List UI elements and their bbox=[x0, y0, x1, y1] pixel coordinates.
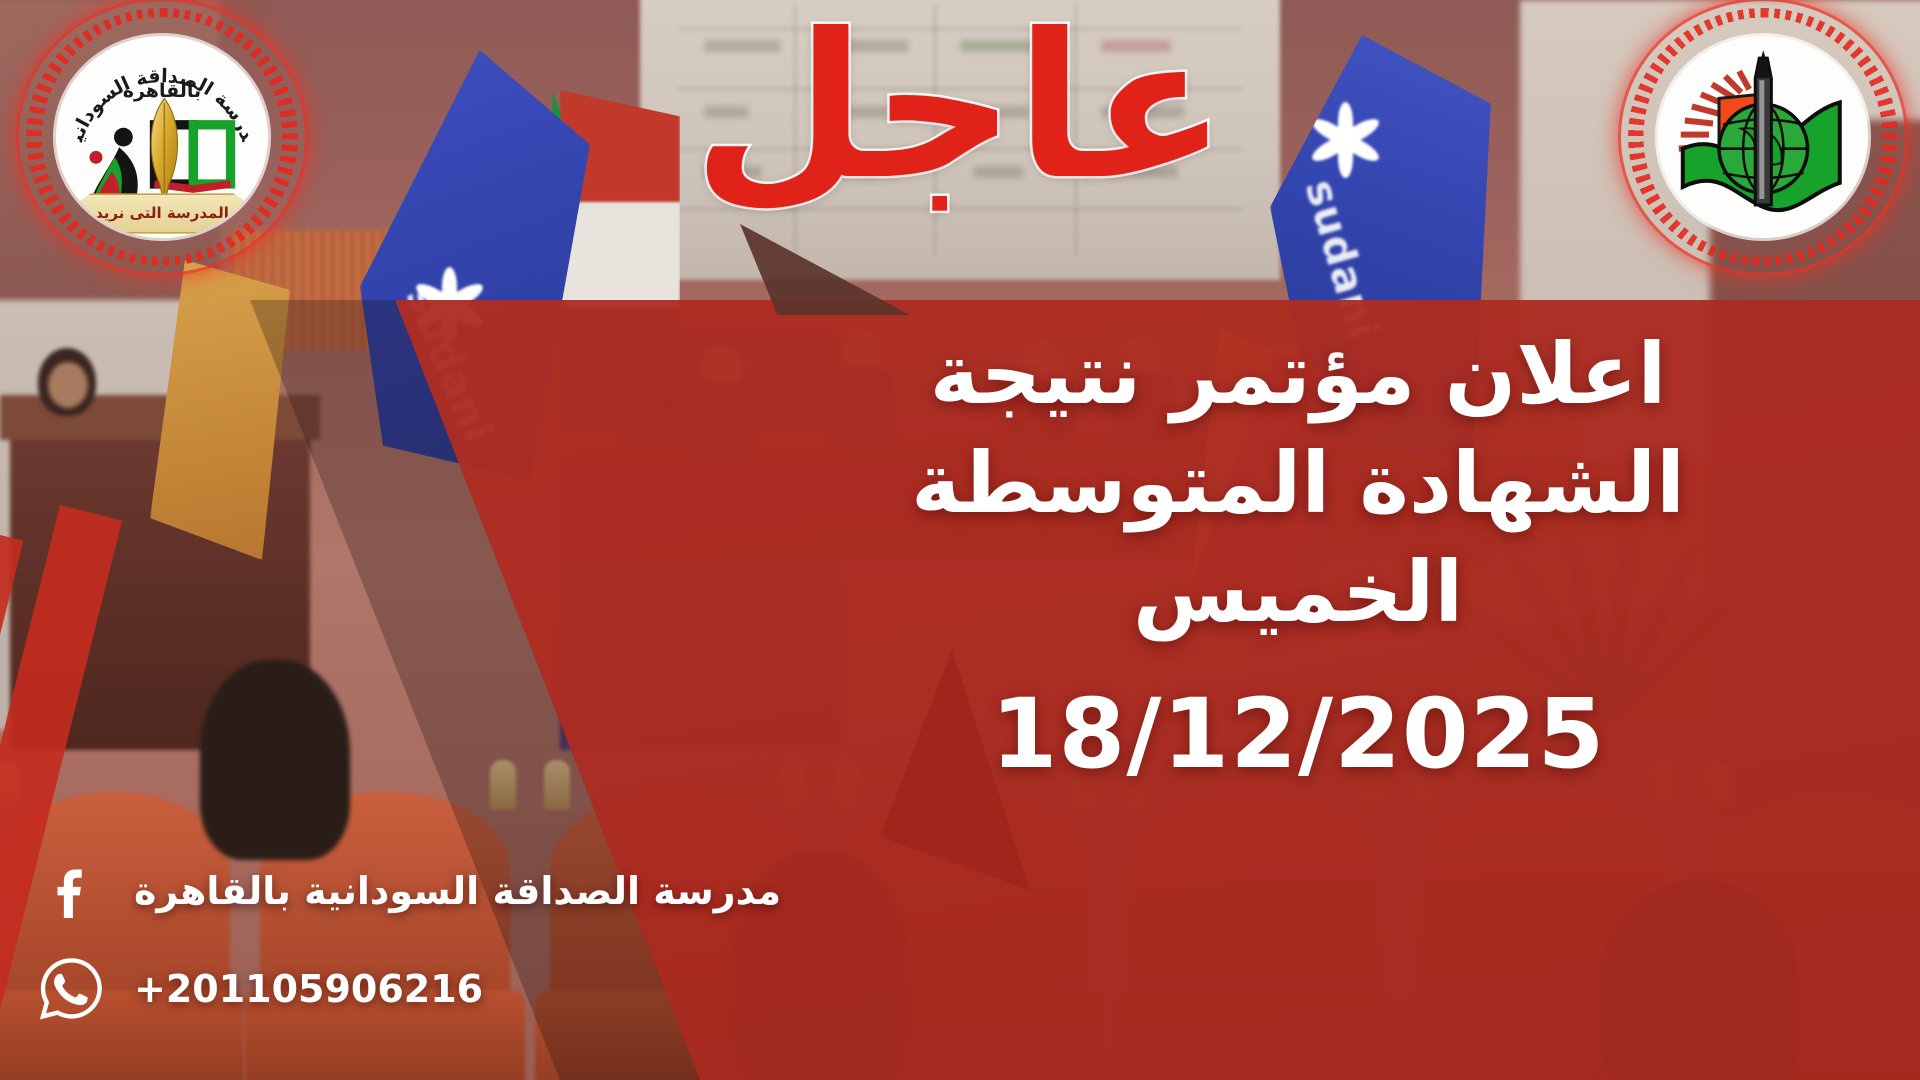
headline-line-1: اعلان مؤتمر نتيجة bbox=[728, 320, 1868, 429]
facebook-page-label: مدرسة الصداقة السودانية بالقاهرة bbox=[134, 869, 781, 913]
event-date: 18/12/2025 bbox=[728, 672, 1868, 797]
whatsapp-number-label: +201105906216 bbox=[134, 967, 483, 1011]
headline-line-3: الخميس bbox=[728, 538, 1868, 647]
facebook-icon[interactable] bbox=[34, 858, 108, 924]
speaker-face bbox=[48, 362, 88, 408]
headline-block: اعلان مؤتمر نتيجة الشهادة المتوسطة الخمي… bbox=[728, 320, 1868, 796]
social-footer: مدرسة الصداقة السودانية بالقاهرة +201105… bbox=[34, 858, 874, 1054]
facebook-row[interactable]: مدرسة الصداقة السودانية بالقاهرة bbox=[34, 858, 874, 924]
urgent-label: عاجل bbox=[0, 8, 1920, 208]
banner-canvas: sudani sudani bbox=[0, 0, 1920, 1080]
whatsapp-icon[interactable] bbox=[34, 954, 108, 1024]
headline-line-2: الشهادة المتوسطة bbox=[728, 429, 1868, 538]
whatsapp-row[interactable]: +201105906216 bbox=[34, 954, 874, 1024]
